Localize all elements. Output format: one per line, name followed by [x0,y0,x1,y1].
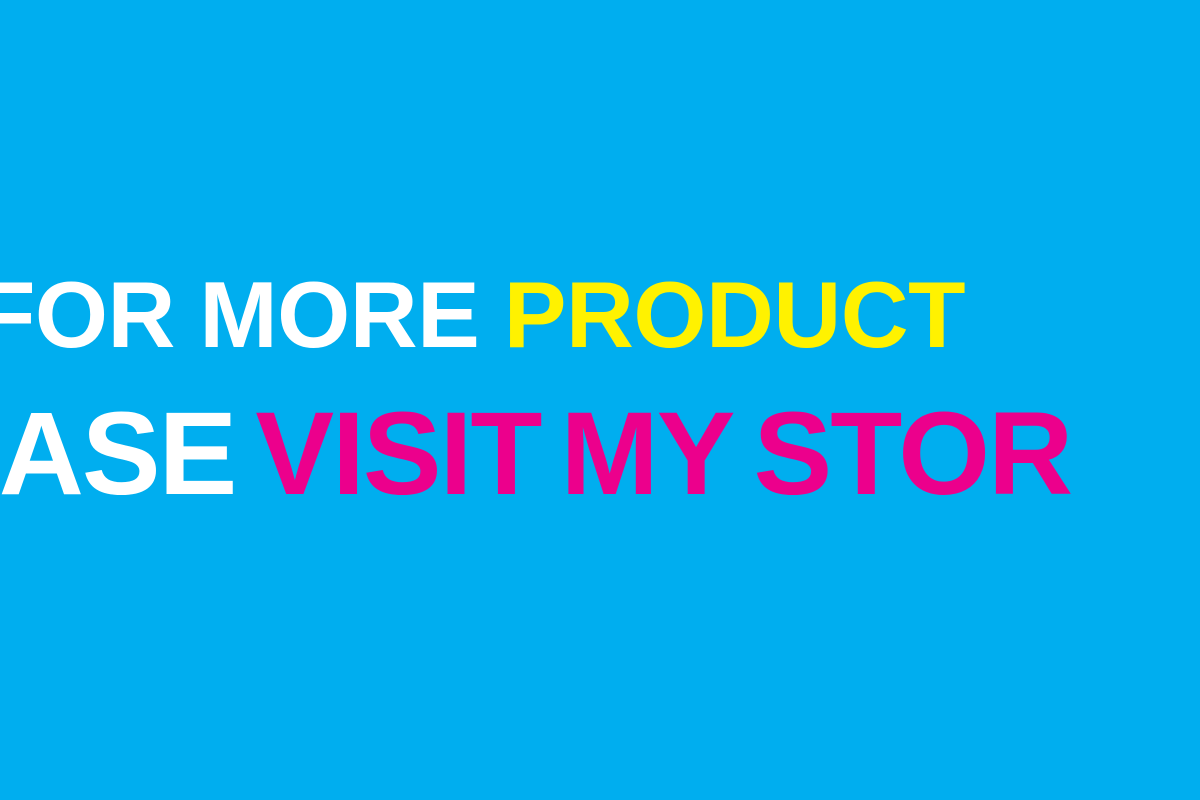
banner-word-visit: VISIT [255,388,540,520]
banner-word-ease: EASE [0,388,235,520]
banner-word-more: MORE [199,262,479,367]
banner-word-my: MY [561,388,734,520]
banner-word-product: PRODUCT [504,262,965,367]
banner-word-stor: STOR [754,388,1072,520]
banner-line-2: EASEVISITMYSTOR [0,395,1071,513]
banner-line-1: FORMOREPRODUCT [0,268,965,362]
banner-text-block: FORMOREPRODUCT EASEVISITMYSTOR [0,0,1200,800]
banner-word-for: FOR [0,262,175,367]
promo-banner: FORMOREPRODUCT EASEVISITMYSTOR [0,0,1200,800]
